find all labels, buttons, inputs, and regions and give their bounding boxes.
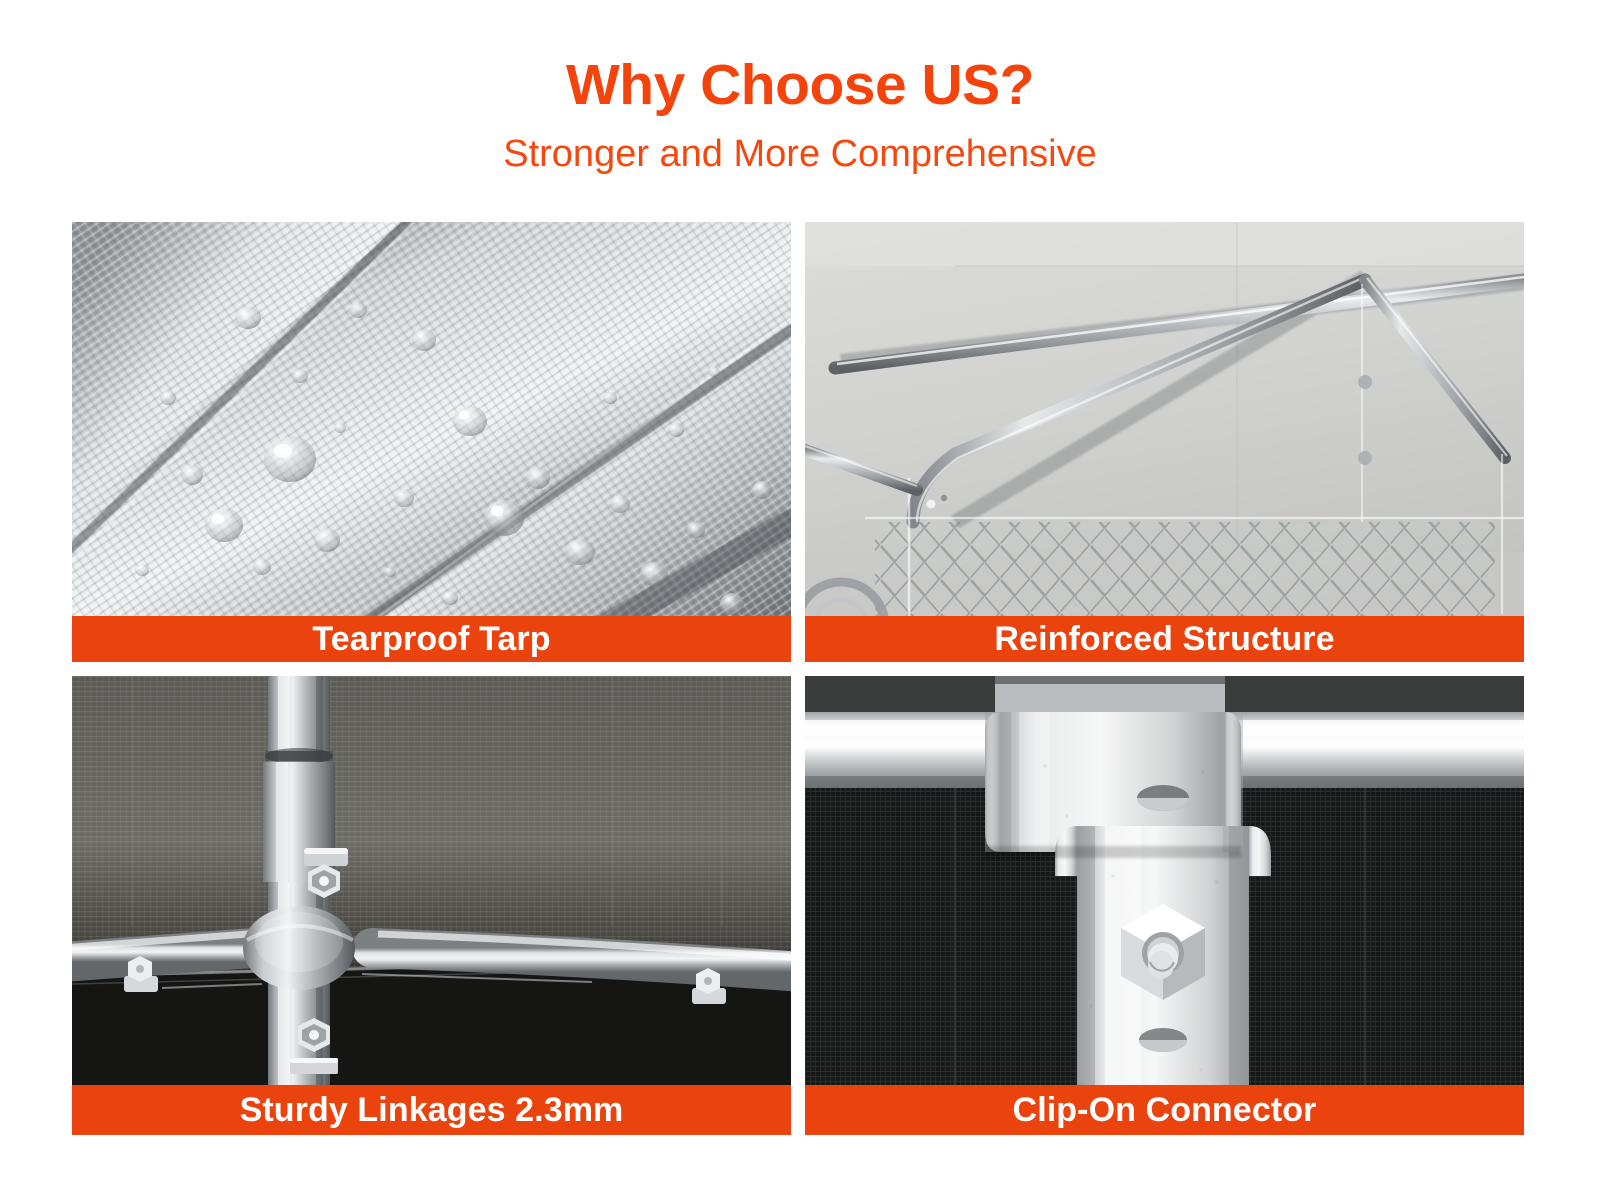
panel-caption-bar: Reinforced Structure — [805, 616, 1524, 662]
panel-caption-label: Reinforced Structure — [994, 622, 1334, 656]
silver-woven-tarp-image — [72, 222, 791, 662]
panel-caption-label: Tearproof Tarp — [312, 622, 550, 656]
panel-caption-bar: Clip-On Connector — [805, 1085, 1524, 1135]
galvanized-frame-image — [805, 222, 1524, 662]
tube-cross-joint-image — [72, 676, 791, 1135]
page-title: Why Choose US? — [0, 0, 1600, 116]
feature-panel-tearproof-tarp: Tearproof Tarp — [72, 222, 791, 662]
feature-panel-reinforced-structure: Reinforced Structure — [805, 222, 1524, 662]
clip-on-connector-image — [805, 676, 1524, 1135]
page-subtitle: Stronger and More Comprehensive — [0, 116, 1600, 176]
panel-caption-bar: Sturdy Linkages 2.3mm — [72, 1085, 791, 1135]
panel-caption-bar: Tearproof Tarp — [72, 616, 791, 662]
promo-page: Why Choose US? Stronger and More Compreh… — [0, 0, 1600, 1200]
panel-caption-label: Sturdy Linkages 2.3mm — [240, 1093, 624, 1127]
feature-panel-clip-on-connector: Clip-On Connector — [805, 676, 1524, 1135]
feature-grid: Tearproof Tarp — [72, 222, 1524, 1135]
feature-panel-sturdy-linkages: Sturdy Linkages 2.3mm — [72, 676, 791, 1135]
panel-caption-label: Clip-On Connector — [1013, 1093, 1317, 1127]
header: Why Choose US? Stronger and More Compreh… — [0, 0, 1600, 176]
